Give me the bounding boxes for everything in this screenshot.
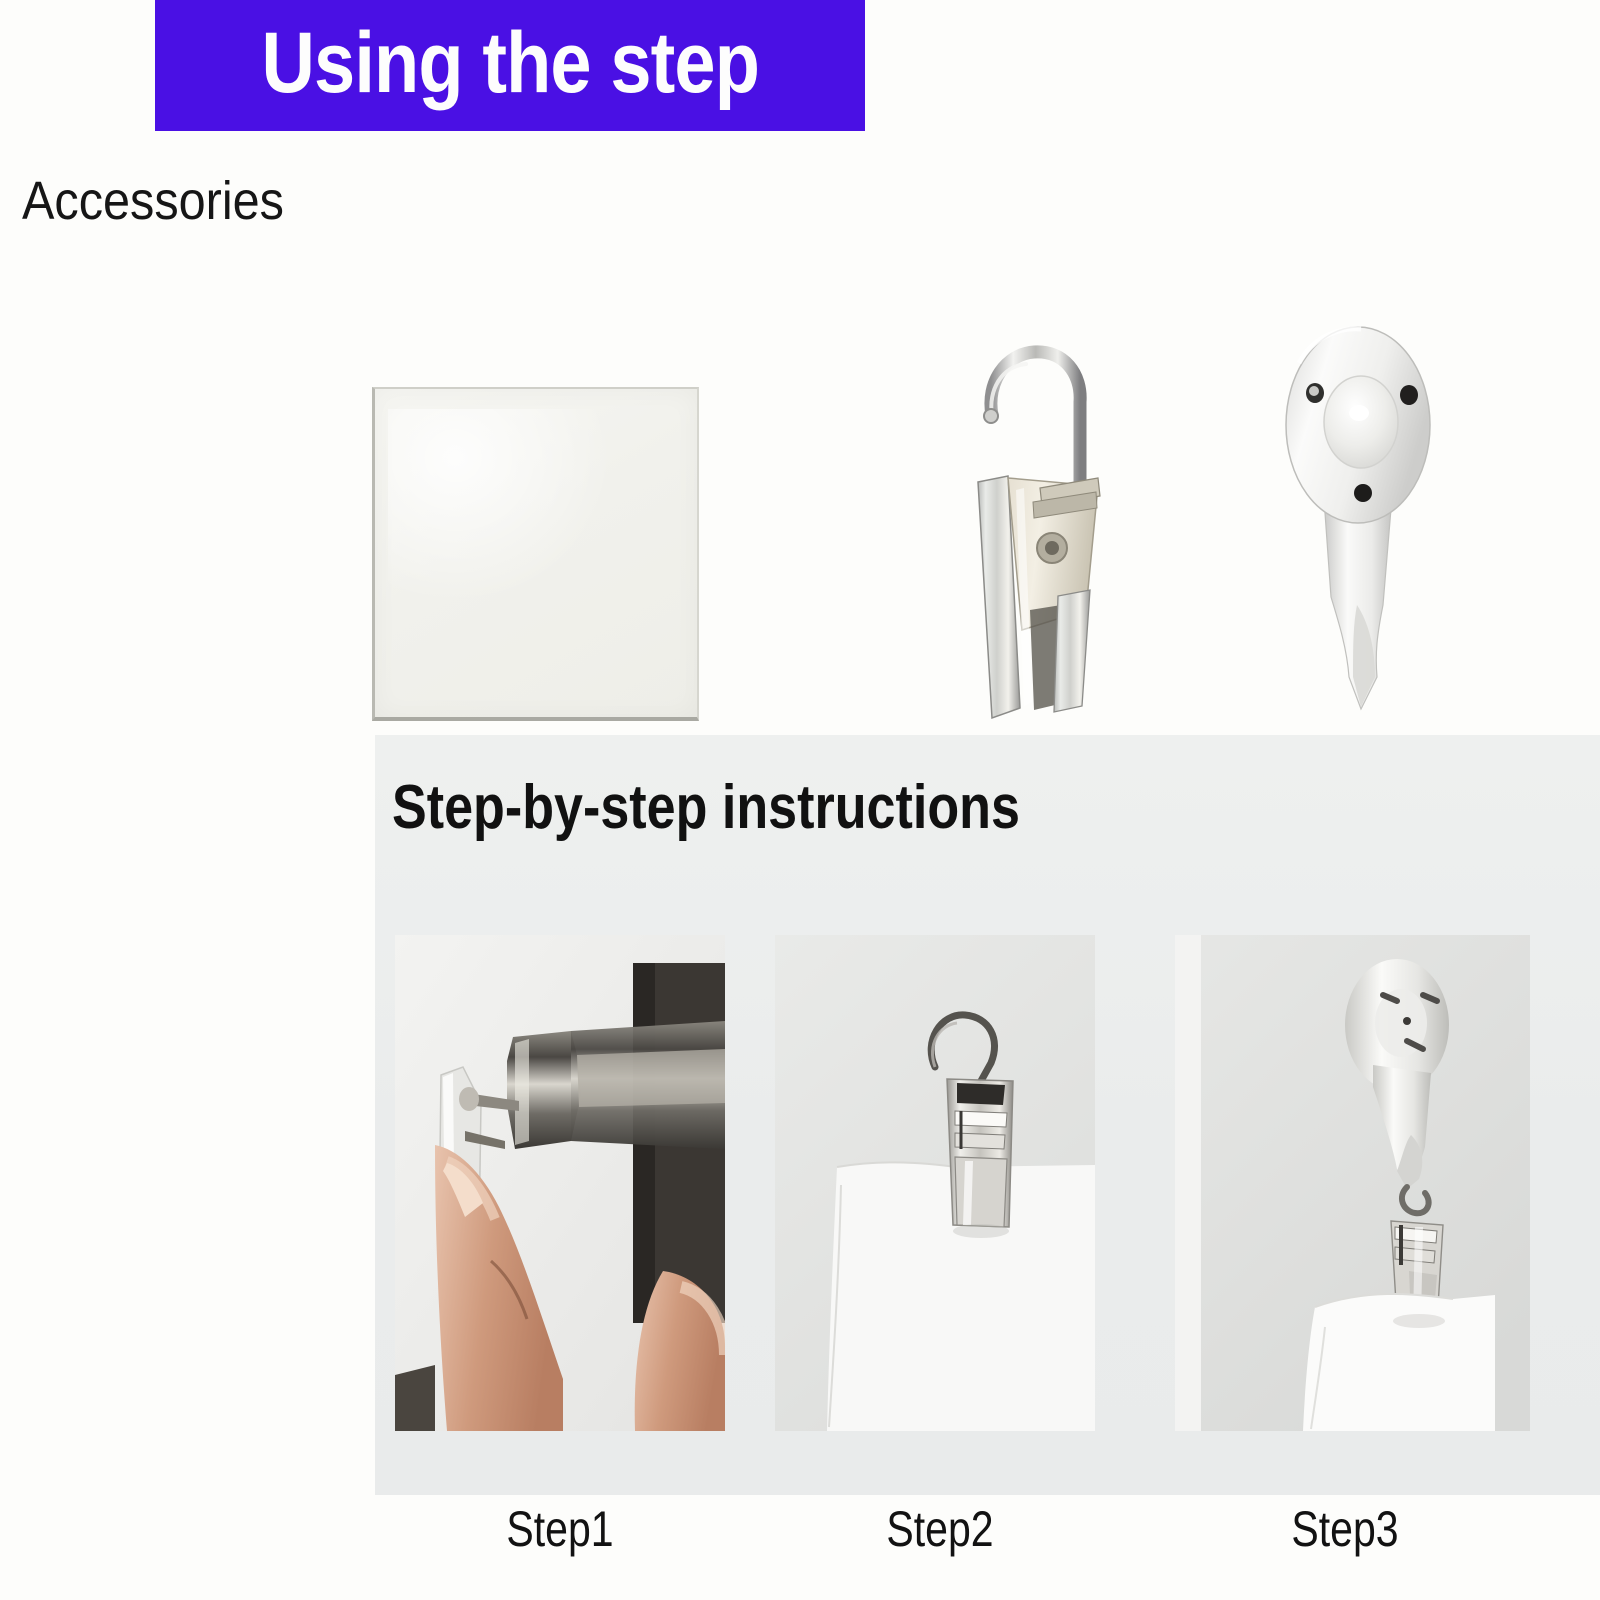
page-title: Using the step: [261, 20, 759, 112]
step-1-caption: Step1: [429, 1500, 691, 1558]
step-2-photo: [775, 935, 1095, 1431]
infographic-canvas: Using the step Accessories: [0, 0, 1600, 1600]
accessories-row: sticky 2 hangers 2 nails: [0, 150, 1600, 670]
instructions-heading: Step-by-step instructions: [392, 772, 1020, 843]
white-wall-hook-icon: [1265, 305, 1455, 725]
step-3-caption: Step3: [1210, 1500, 1481, 1558]
step-2-caption: Step2: [809, 1500, 1071, 1558]
metal-clip-hanger-icon: [930, 310, 1140, 730]
step-1-photo: [395, 935, 725, 1431]
title-banner: Using the step: [155, 0, 865, 131]
adhesive-pad-icon: [372, 387, 699, 721]
step-3-photo: [1175, 935, 1530, 1431]
